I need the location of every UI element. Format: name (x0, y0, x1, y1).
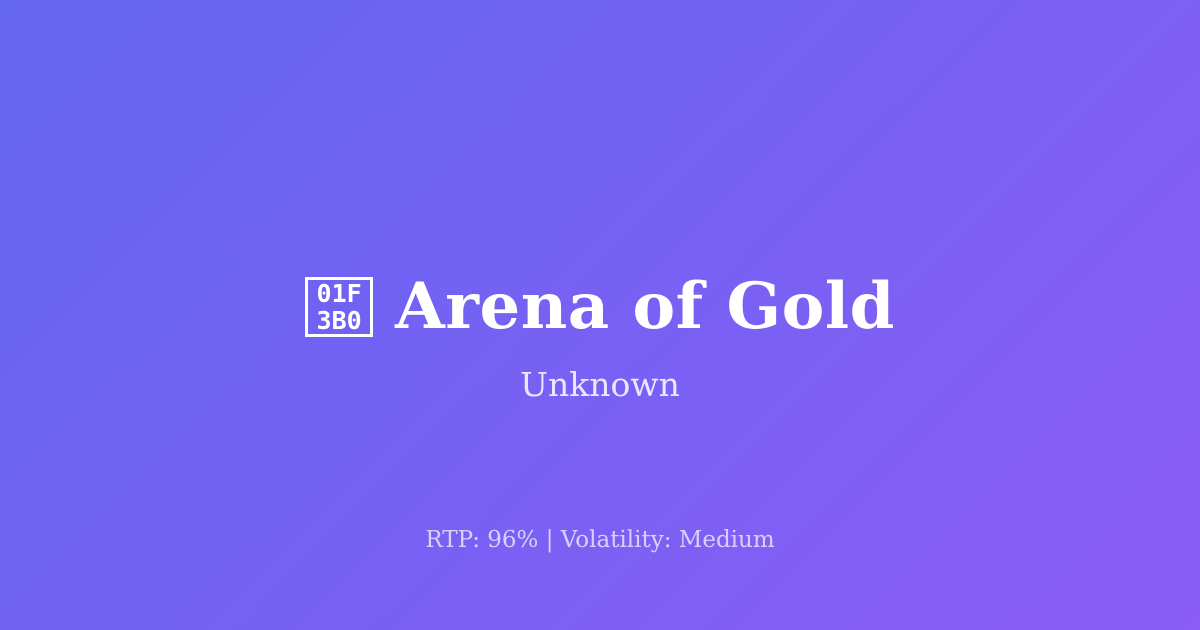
game-meta-line: RTP: 96% | Volatility: Medium (0, 527, 1200, 555)
subtitle: Unknown (0, 365, 1200, 405)
og-share-card: 01F 3B0 Arena of Gold Unknown RTP: 96% |… (0, 0, 1200, 630)
page-title: Arena of Gold (395, 275, 895, 339)
title-row: 01F 3B0 Arena of Gold (0, 232, 1200, 382)
tofu-codepoint-low: 3B0 (317, 307, 362, 334)
tofu-codepoint-high: 01F (317, 280, 362, 307)
slot-machine-icon: 01F 3B0 (305, 277, 373, 337)
